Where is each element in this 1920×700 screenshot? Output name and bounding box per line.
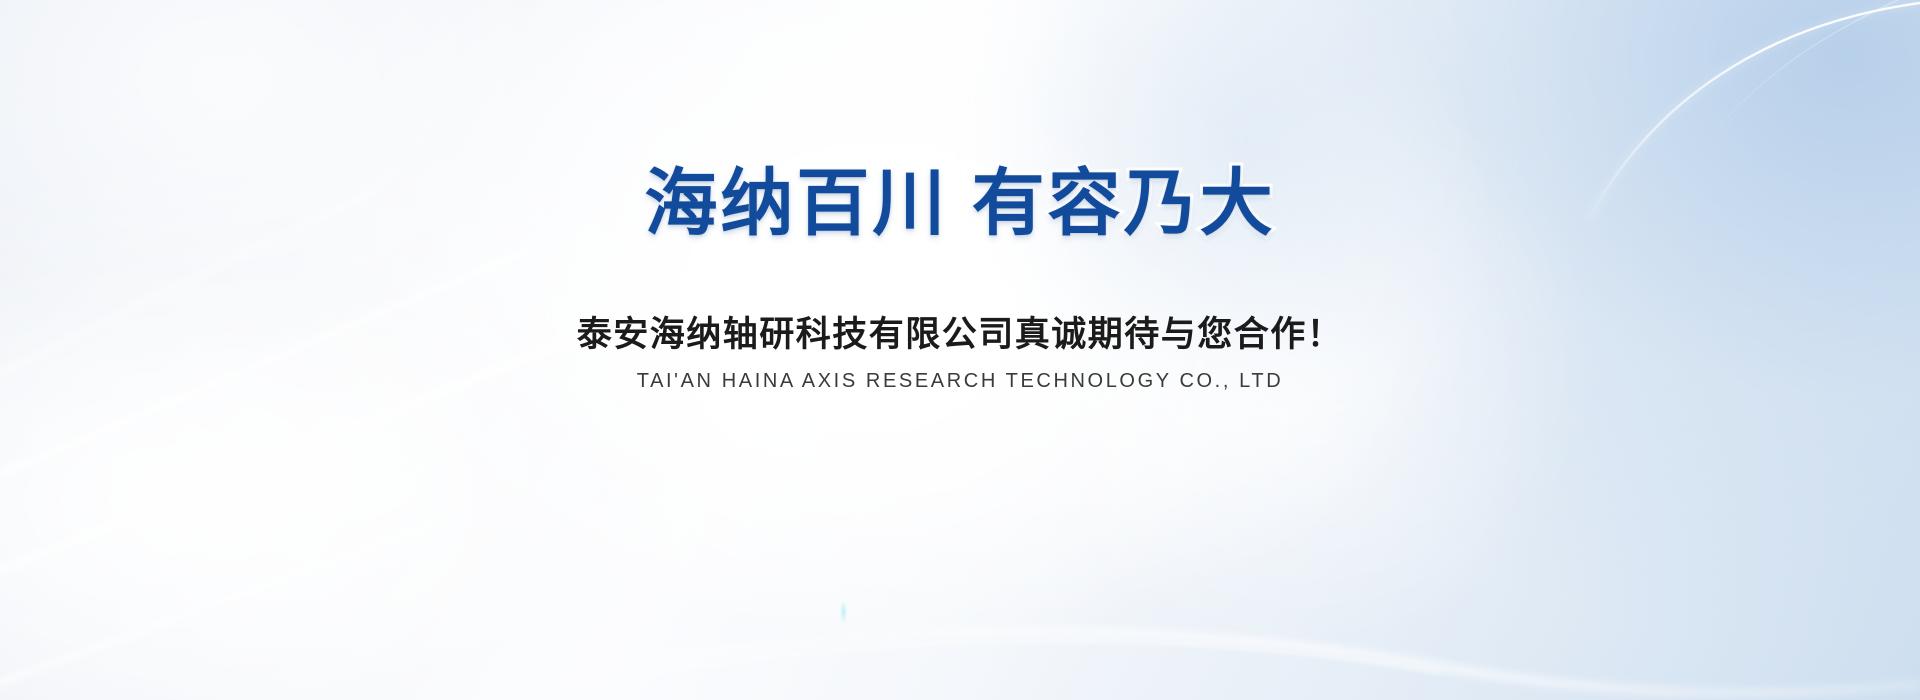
banner-tagline-chinese: 泰安海纳轴研科技有限公司真诚期待与您合作！ <box>577 306 1344 357</box>
banner-content: 海纳百川 有容乃大 泰安海纳轴研科技有限公司真诚期待与您合作！ TAI'AN H… <box>0 0 1920 700</box>
banner-tagline-english: TAI'AN HAINA AXIS RESEARCH TECHNOLOGY CO… <box>637 370 1284 393</box>
banner-headline: 海纳百川 有容乃大 <box>644 166 1275 243</box>
hero-banner: 海纳百川 有容乃大 泰安海纳轴研科技有限公司真诚期待与您合作！ TAI'AN H… <box>0 0 1920 700</box>
